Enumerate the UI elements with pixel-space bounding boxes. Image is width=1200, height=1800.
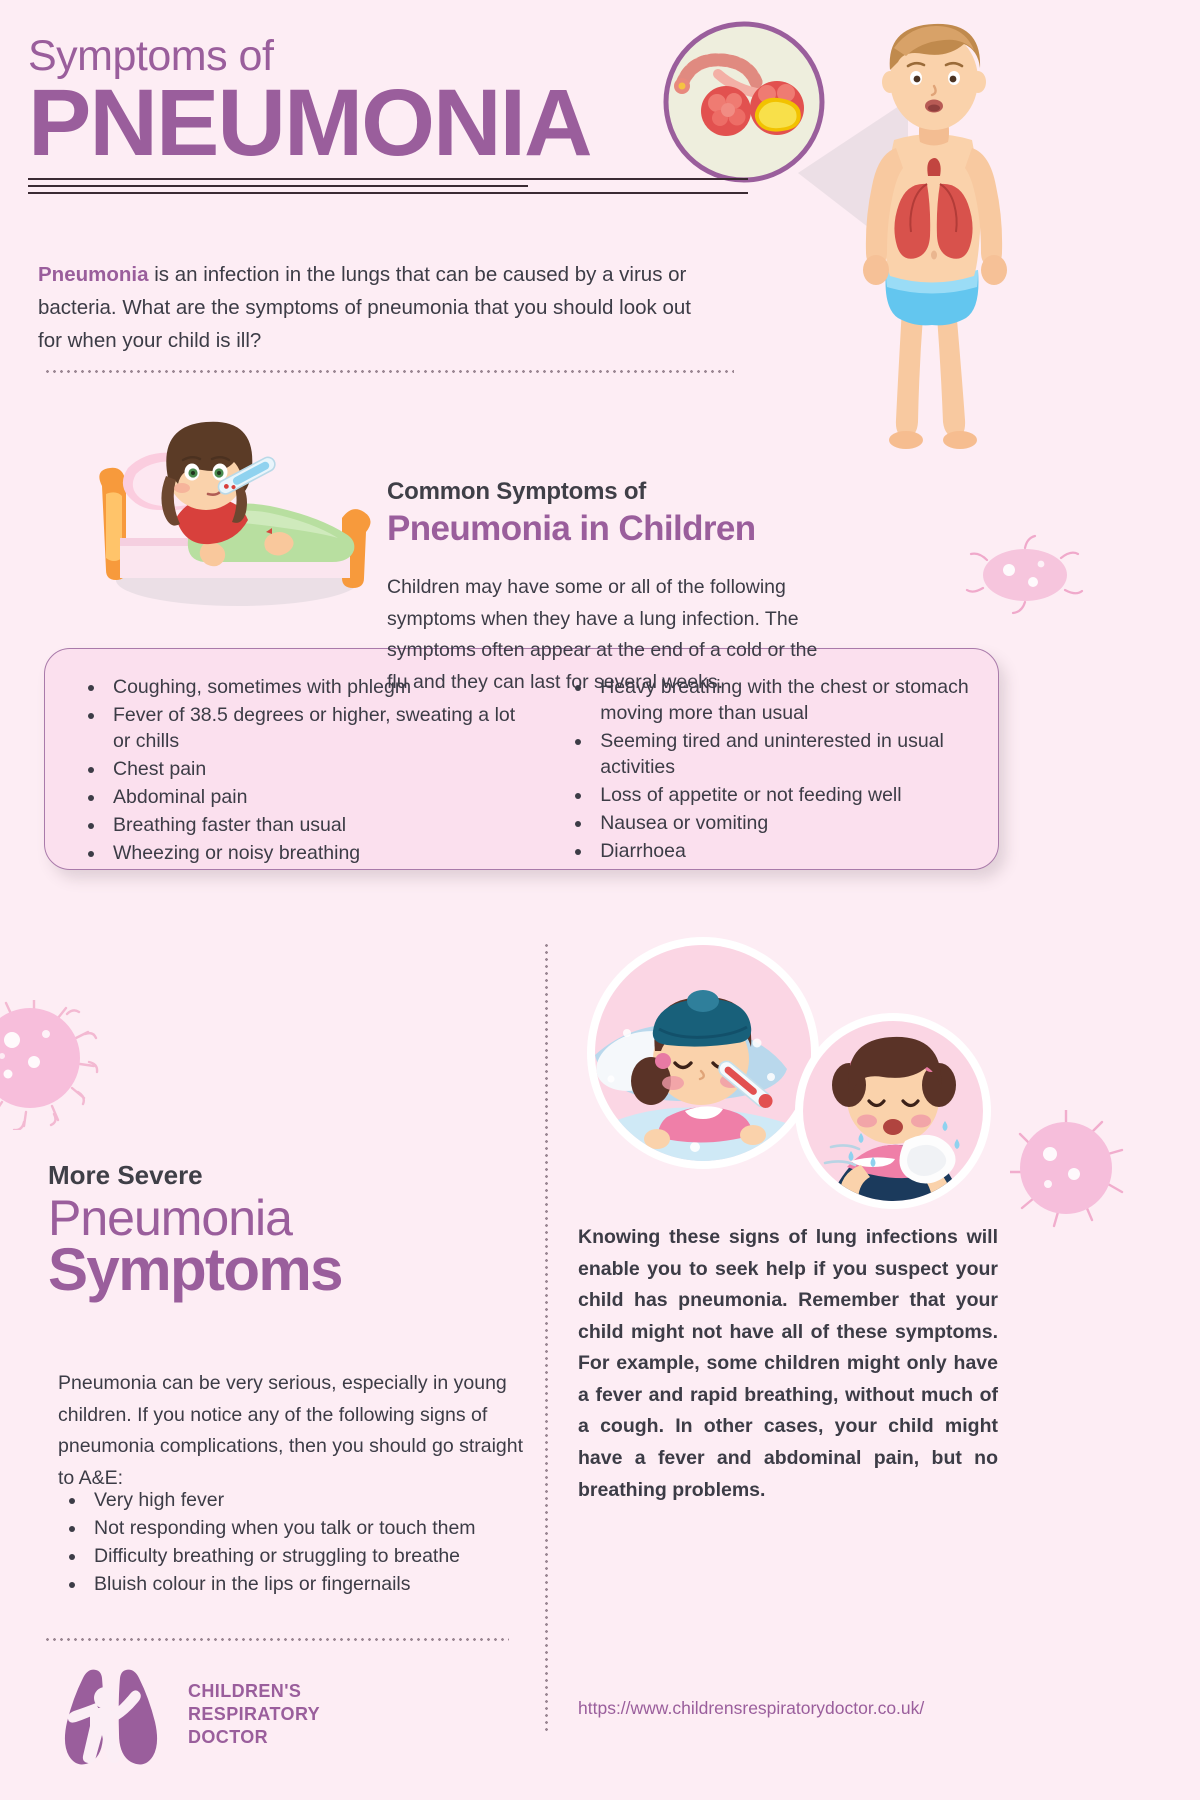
boy-with-lungs-illustration [790, 8, 1080, 478]
intro-paragraph: Pneumonia is an infection in the lungs t… [38, 258, 698, 358]
brand-logo[interactable]: CHILDREN'S RESPIRATORY DOCTOR [52, 1662, 320, 1767]
intro-dotted-divider [44, 370, 734, 373]
header-divider-line-3 [28, 192, 748, 194]
severe-symptoms-headline-bold: Symptoms [48, 1240, 528, 1300]
symptoms-column-right: Heavy breathing with the chest or stomac… [536, 675, 978, 868]
sick-children-circle-illustrations [575, 935, 995, 1210]
list-item: Difficulty breathing or struggling to br… [58, 1544, 538, 1570]
vertical-dotted-divider [545, 942, 548, 1732]
severe-symptoms-list: Very high fever Not responding when you … [58, 1488, 538, 1598]
girl-in-bed-thermometer-illustration [80, 368, 380, 618]
header-divider-line-2 [28, 185, 528, 187]
common-symptoms-headline: Pneumonia in Children [387, 509, 847, 549]
header-divider [28, 178, 748, 194]
list-item: Bluish colour in the lips or fingernails [58, 1572, 538, 1598]
website-url[interactable]: https://www.childrensrespiratorydoctor.c… [578, 1698, 924, 1719]
list-item: Breathing faster than usual [77, 813, 518, 839]
header-divider-line-1 [28, 178, 748, 180]
list-item: Wheezing or noisy breathing [77, 841, 518, 867]
page-title: PNEUMONIA [28, 75, 788, 172]
common-symptoms-kicker: Common Symptoms of [387, 478, 847, 506]
brand-logo-text: CHILDREN'S RESPIRATORY DOCTOR [188, 1680, 320, 1748]
severe-symptoms-kicker: More Severe [48, 1160, 528, 1191]
list-item: Abdominal pain [77, 785, 518, 811]
symptoms-list-left: Coughing, sometimes with phlegm Fever of… [77, 675, 518, 866]
list-item: Not responding when you talk or touch th… [58, 1516, 538, 1542]
list-item: Fever of 38.5 degrees or higher, sweatin… [77, 703, 518, 755]
list-item: Very high fever [58, 1488, 538, 1514]
germ-decoration-left-icon [0, 1000, 102, 1130]
germ-decoration-right-bottom-icon [1010, 1110, 1130, 1230]
page-header: Symptoms of PNEUMONIA [28, 34, 788, 194]
girl-icepack-thermometer-circle-illustration [585, 937, 835, 1210]
list-item: Loss of appetite or not feeding well [564, 783, 978, 809]
closing-paragraph: Knowing these signs of lung infections w… [578, 1222, 998, 1506]
logo-line-1: CHILDREN'S [188, 1680, 320, 1703]
lungs-child-logo-icon [52, 1662, 170, 1767]
intro-lead-word: Pneumonia [38, 263, 149, 286]
common-symptoms-body: Children may have some or all of the fol… [387, 572, 827, 698]
severe-symptoms-list-wrap: Very high fever Not responding when you … [58, 1488, 538, 1600]
infographic-page: Symptoms of PNEUMONIA [0, 0, 1200, 1800]
severe-symptoms-body: Pneumonia can be very serious, especiall… [58, 1368, 528, 1494]
list-item: Seeming tired and uninterested in usual … [564, 729, 978, 781]
list-item: Diarrhoea [564, 839, 978, 865]
severe-dotted-divider [44, 1638, 509, 1641]
germ-decoration-right-top-icon [965, 530, 1085, 620]
common-symptoms-heading-block: Common Symptoms of Pneumonia in Children [387, 478, 847, 549]
list-item: Chest pain [77, 757, 518, 783]
logo-line-3: DOCTOR [188, 1726, 320, 1749]
symptoms-column-left: Coughing, sometimes with phlegm Fever of… [77, 675, 518, 868]
severe-symptoms-heading-block: More Severe Pneumonia Symptoms [48, 1160, 528, 1300]
symptoms-list-right: Heavy breathing with the chest or stomac… [564, 675, 978, 864]
logo-line-2: RESPIRATORY [188, 1703, 320, 1726]
girl-coughing-tissue-circle-illustration [795, 1013, 991, 1210]
list-item: Nausea or vomiting [564, 811, 978, 837]
